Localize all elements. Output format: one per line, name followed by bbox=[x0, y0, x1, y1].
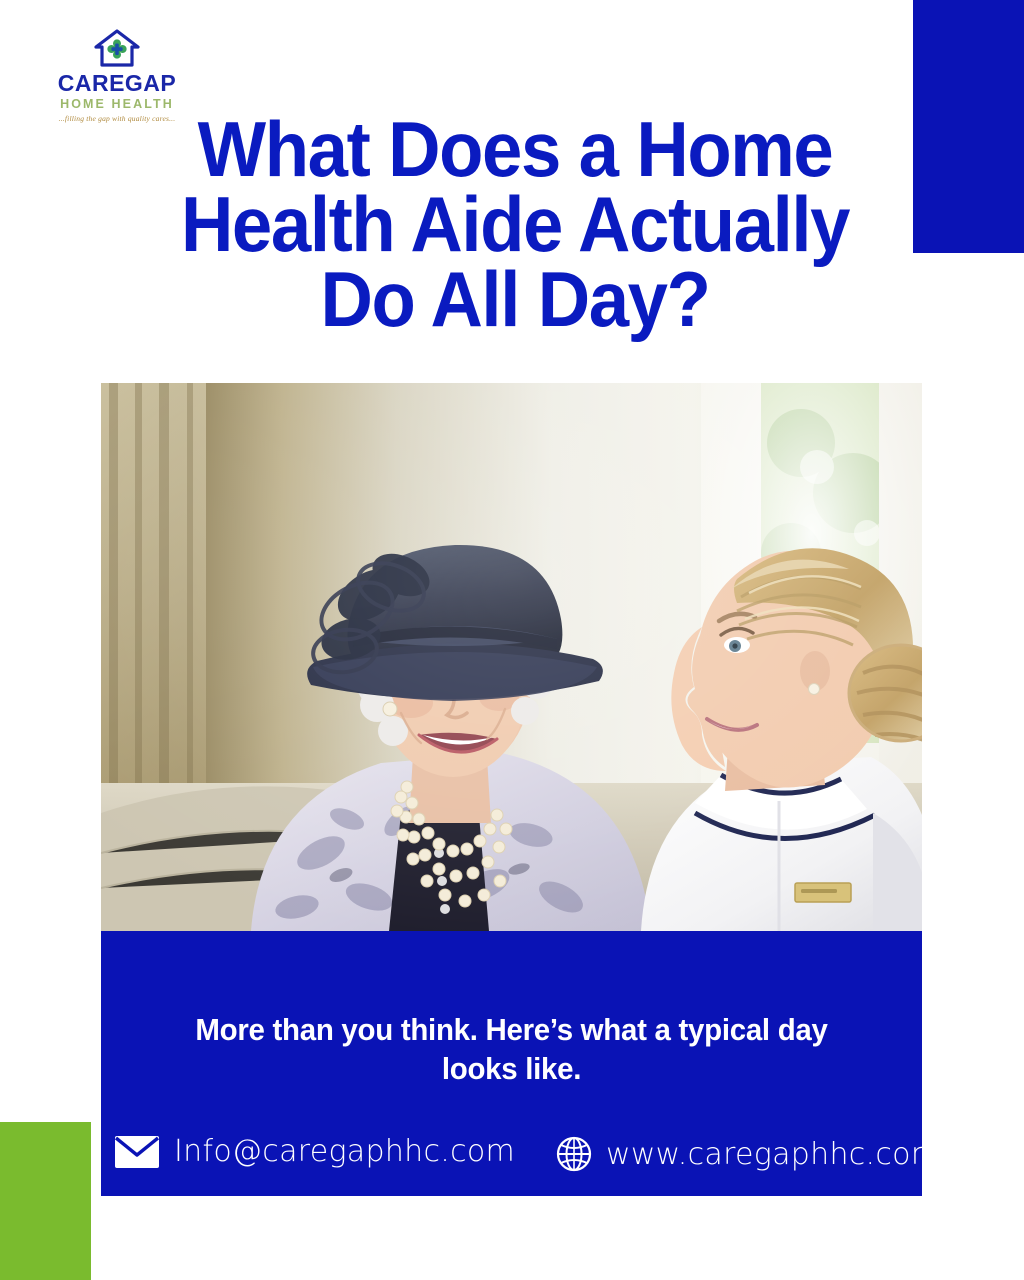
caption-panel: More than you think. Here’s what a typic… bbox=[101, 931, 922, 1196]
contact-website[interactable]: www.caregaphhc.com bbox=[556, 1136, 940, 1172]
headline-line-1: What Does a Home bbox=[148, 112, 883, 187]
website-text: www.caregaphhc.com bbox=[606, 1137, 940, 1172]
headline-line-2: Health Aide Actually bbox=[148, 187, 883, 262]
decorative-block-bottom-left bbox=[0, 1122, 91, 1280]
headline: What Does a Home Health Aide Actually Do… bbox=[148, 112, 883, 337]
globe-icon bbox=[556, 1136, 592, 1172]
subtitle: More than you think. Here’s what a typic… bbox=[179, 1011, 845, 1089]
decorative-block-top-right bbox=[913, 0, 1024, 253]
house-with-medical-cross-icon bbox=[93, 28, 141, 68]
headline-line-3: Do All Day? bbox=[148, 262, 883, 337]
brand-logo: CAREGAP HOME HEALTH ...filling the gap w… bbox=[52, 28, 182, 122]
logo-wordmark: CAREGAP bbox=[52, 72, 182, 95]
email-text: Info@caregaphhc.com bbox=[174, 1134, 515, 1169]
hero-photo bbox=[101, 383, 922, 931]
social-media-poster: CAREGAP HOME HEALTH ...filling the gap w… bbox=[0, 0, 1024, 1280]
logo-subtitle: HOME HEALTH bbox=[52, 98, 182, 111]
hero-photo-illustration bbox=[101, 383, 922, 931]
contact-email[interactable]: Info@caregaphhc.com bbox=[114, 1134, 515, 1169]
envelope-icon bbox=[114, 1135, 160, 1169]
